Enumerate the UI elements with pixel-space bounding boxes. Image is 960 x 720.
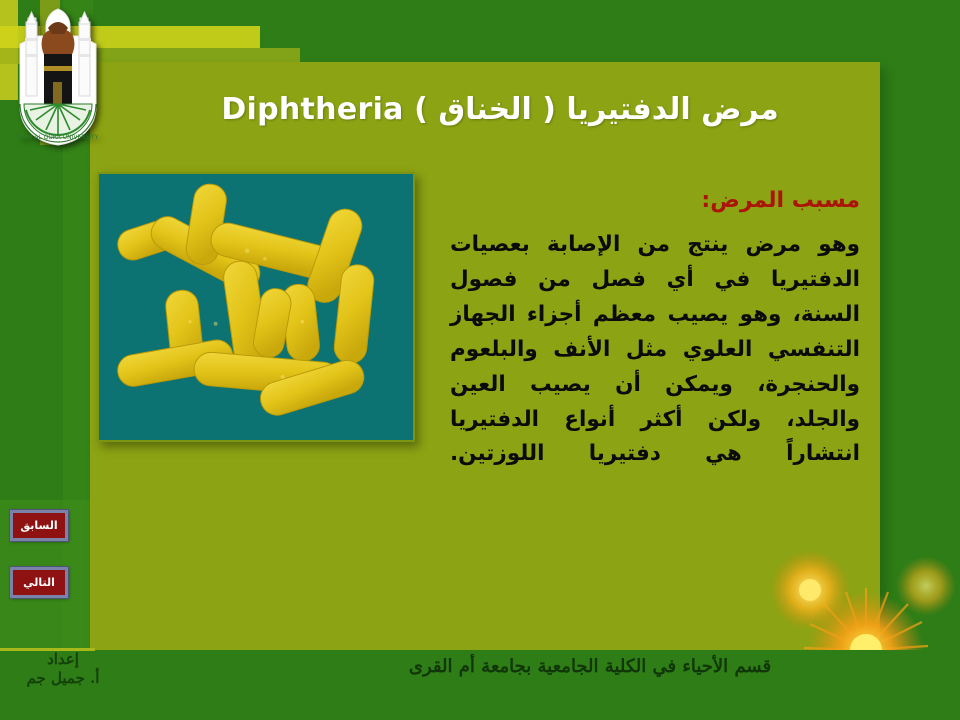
- diphtheria-bacilli-micrograph: [97, 172, 415, 442]
- credit-block: إعداد أ. جميل جم: [8, 650, 118, 688]
- svg-text:UMM AL QURA UNIVERSITY: UMM AL QURA UNIVERSITY: [18, 134, 99, 141]
- previous-slide-button[interactable]: السابق: [10, 510, 68, 541]
- cause-body-text: وهو مرض ينتج من الإصابة بعصيات الدفتيريا…: [450, 228, 860, 472]
- cause-heading: مسبب المرض:: [450, 188, 860, 214]
- credit-label: إعداد: [8, 650, 118, 669]
- umm-al-qura-university-logo-icon: UMM AL QURA UNIVERSITY: [6, 6, 110, 148]
- disease-description-block: مسبب المرض: وهو مرض ينتج من الإصابة بعصي…: [450, 188, 860, 472]
- presentation-slide: UMM AL QURA UNIVERSITY مرض الدفتيريا ( ا…: [0, 0, 960, 720]
- credit-author-name: أ. جميل جم: [8, 669, 118, 688]
- next-slide-button[interactable]: التالي: [10, 567, 68, 598]
- footer-department-text: قسم الأحياء في الكلية الجامعية بجامعة أم…: [330, 656, 850, 677]
- slide-title: مرض الدفتيريا ( الخناق ) Diphtheria: [160, 92, 840, 127]
